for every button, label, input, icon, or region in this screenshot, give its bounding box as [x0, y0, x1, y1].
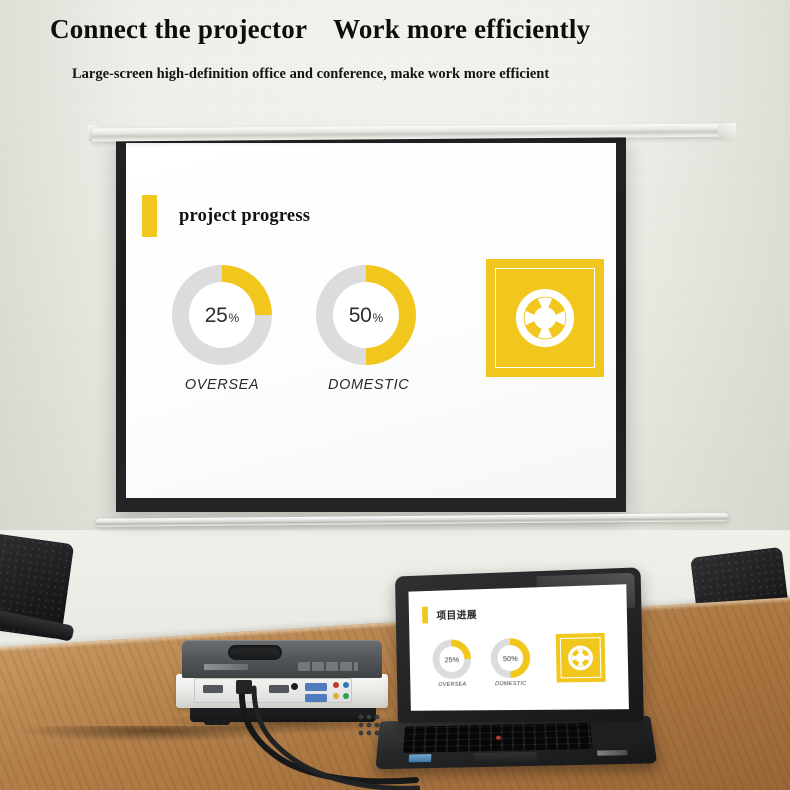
laptop-touchpad[interactable]: [474, 752, 537, 764]
laptop-donut-ring-50: 50%: [490, 638, 530, 679]
laptop-shadow: [14, 726, 290, 742]
headline-block: Connect the projectorWork more efficient…: [0, 0, 790, 128]
donut-number-25: 25: [205, 305, 228, 326]
slide-title-row: project progress: [142, 195, 310, 237]
donut-number-50: 50: [349, 305, 372, 326]
laptop-screen: 项目进展 25% OVERSEA 50%: [408, 584, 628, 711]
title-accent-bar: [142, 195, 157, 237]
title-part-2: Work more efficiently: [333, 14, 590, 44]
product-banner: Connect the projectorWork more efficient…: [0, 0, 790, 790]
donut-value-25: 25 %: [205, 305, 239, 326]
lower-scene-desk: 项目进展 25% OVERSEA 50%: [0, 530, 790, 790]
donut-center-50: 50 %: [333, 282, 399, 348]
donut-chart-oversea: 25 % OVERSEA: [162, 265, 282, 395]
laptop-base-deck: [375, 716, 657, 769]
laptop-donut-ring-25: 25%: [432, 639, 471, 679]
laptop-brand-label: [597, 750, 628, 756]
donut-label-domestic: DOMESTIC: [324, 376, 408, 395]
projector-brand-mark: [204, 664, 248, 670]
page-title: Connect the projectorWork more efficient…: [50, 14, 750, 45]
laptop-donut-label-domestic: DOMESTIC: [485, 681, 537, 689]
title-part-1: Connect the projector: [50, 14, 307, 44]
projection-screen: project progress 25 % OVERSEA: [116, 134, 626, 512]
laptop-spec-sticker: [409, 754, 432, 762]
donut-center-25: 25 %: [189, 282, 255, 348]
slide-canvas: project progress 25 % OVERSEA: [126, 143, 616, 498]
laptop-title-accent-bar: [422, 607, 428, 624]
slide-title: project progress: [179, 206, 310, 227]
laptop-slide-title: 项目进展: [436, 606, 477, 622]
laptop-lid: 项目进展 25% OVERSEA 50%: [395, 567, 644, 722]
lifebuoy-icon: [567, 644, 594, 671]
donut-unit-50: %: [373, 312, 384, 324]
lifebuoy-card: [486, 259, 604, 377]
projector-top-cover: [182, 640, 382, 678]
page-subtitle: Large-screen high-definition office and …: [72, 60, 712, 88]
laptop-donut-label-oversea: OVERSEA: [427, 682, 477, 690]
laptop-donut-oversea: 25% OVERSEA: [427, 639, 478, 689]
laptop-donut-value-25: 25%: [439, 646, 465, 672]
laptop-progress-charts: 25% OVERSEA 50% DOMESTIC: [423, 636, 621, 701]
donut-label-oversea: OVERSEA: [180, 376, 264, 395]
laptop-donut-domestic: 50% DOMESTIC: [484, 638, 536, 689]
laptop-slide-title-row: 项目进展: [422, 605, 477, 623]
donut-ring-25: 25 %: [172, 265, 272, 365]
donut-unit-25: %: [229, 312, 240, 324]
desktop-projector: [176, 640, 388, 728]
laptop-donut-value-50: 50%: [497, 645, 523, 671]
laptop-lifebuoy-card: [556, 633, 606, 683]
projector-control-buttons[interactable]: [298, 662, 358, 671]
donut-value-50: 50 %: [349, 305, 383, 326]
projector-vent: [228, 645, 282, 660]
thinkpad-laptop: 项目进展 25% OVERSEA 50%: [372, 572, 672, 790]
donut-chart-domestic: 50 % DOMESTIC: [306, 265, 426, 395]
progress-charts: 25 % OVERSEA 50 %: [156, 265, 616, 445]
trackpoint-nub[interactable]: [496, 736, 501, 740]
lifebuoy-icon: [514, 287, 576, 349]
donut-ring-50: 50 %: [316, 265, 416, 365]
